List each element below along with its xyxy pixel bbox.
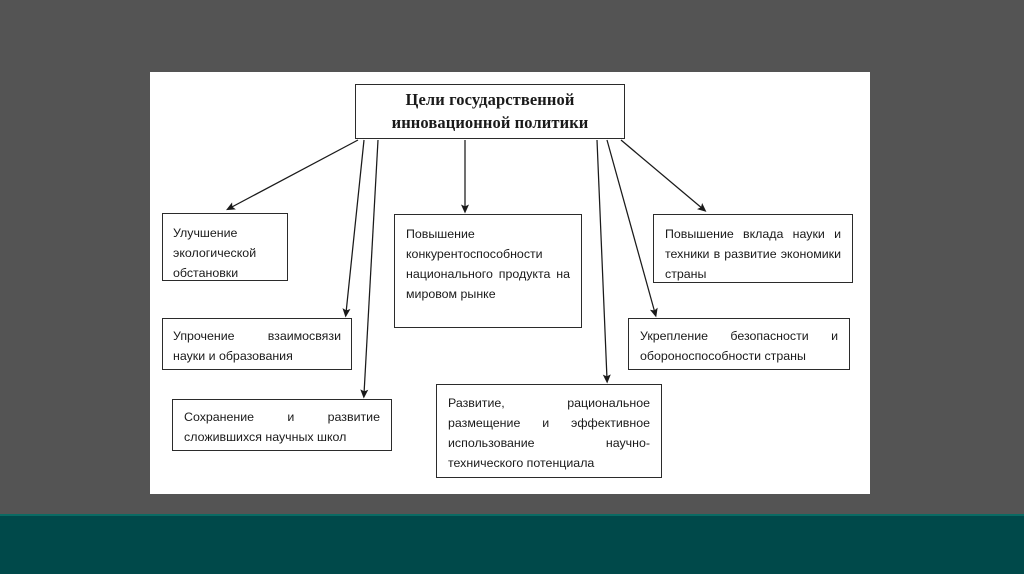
arrow-to-scientific-technical-potential (597, 140, 607, 379)
node-economy-contribution-label: Повышение вклада науки и техники в разви… (665, 224, 841, 284)
node-economy-contribution: Повышение вклада науки и техники в разви… (653, 214, 853, 283)
node-security-defense-label: Укрепление безопасности и обороноспособн… (640, 326, 838, 366)
arrow-to-economy-contribution (621, 140, 703, 209)
node-scientific-schools-label: Сохранение и развитие сложившихся научны… (184, 407, 380, 447)
arrow-to-security-defense (607, 140, 655, 313)
node-competitiveness-label: Повышение конкурентоспособности национал… (406, 224, 570, 304)
node-scientific-schools: Сохранение и развитие сложившихся научны… (172, 399, 392, 451)
arrow-to-scientific-schools (364, 140, 378, 394)
diagram-panel: Цели государственной инновационной полит… (150, 72, 870, 494)
node-title-label: Цели государственной инновационной полит… (356, 89, 624, 134)
node-scientific-technical-potential-label: Развитие, рациональное размещение и эффе… (448, 393, 650, 473)
arrow-to-science-education (346, 140, 364, 313)
arrow-to-ecology (230, 140, 358, 208)
node-competitiveness: Повышение конкурентоспособности национал… (394, 214, 582, 328)
node-ecology: Улучшение экологической обстановки (162, 213, 288, 281)
node-goals-of-state-innovation-policy: Цели государственной инновационной полит… (355, 84, 625, 139)
node-science-education: Упрочение взаимосвязи науки и образовани… (162, 318, 352, 370)
node-security-defense: Укрепление безопасности и обороноспособн… (628, 318, 850, 370)
node-science-education-label: Упрочение взаимосвязи науки и образовани… (173, 326, 341, 366)
node-scientific-technical-potential: Развитие, рациональное размещение и эффе… (436, 384, 662, 478)
bottom-band (0, 516, 1024, 574)
node-ecology-label: Улучшение экологической обстановки (173, 223, 277, 283)
